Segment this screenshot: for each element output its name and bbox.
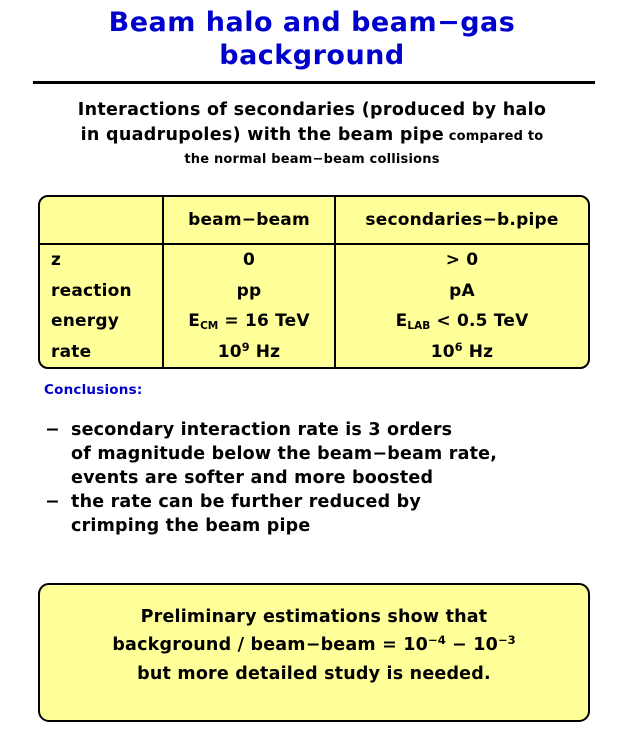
page-title-line-1: Beam halo and beam−gas (0, 6, 624, 39)
table-cell-energy-beam-beam: ECM = 16 TeV (163, 306, 335, 336)
page-title-line-2: background (0, 39, 624, 72)
energy-sec-symbol: E (396, 311, 408, 331)
table-row-label-z: z (40, 244, 163, 276)
rate-sec-unit: Hz (463, 342, 494, 362)
energy-bb-value: = 16 TeV (218, 311, 309, 331)
list-item-line: the rate can be further reduced by (71, 490, 585, 514)
table-row: rate 109 Hz 106 Hz (40, 336, 588, 367)
energy-sec-value: < 0.5 TeV (430, 311, 528, 331)
summary-text: Preliminary estimations show that backgr… (40, 603, 588, 688)
table-row-label-rate: rate (40, 336, 163, 367)
table-cell-energy-secondaries: ELAB < 0.5 TeV (335, 306, 588, 336)
table-header-beam-beam: beam−beam (163, 197, 335, 244)
bullet-dash-icon: − (45, 490, 60, 514)
rate-bb-unit: Hz (250, 342, 281, 362)
comparison-table-grid: beam−beam secondaries−b.pipe z 0 > 0 rea… (40, 197, 588, 367)
table-row-label-energy: energy (40, 306, 163, 336)
table-cell-reaction-secondaries: pA (335, 276, 588, 306)
summary-ratio-mid: − 10 (446, 635, 498, 655)
subtitle-small-trailing: compared to (444, 129, 543, 144)
list-item: − secondary interaction rate is 3 orders… (40, 418, 585, 490)
list-item-line: events are softer and more boosted (71, 466, 585, 490)
page-title: Beam halo and beam−gas background (0, 6, 624, 72)
summary-line-1: Preliminary estimations show that (40, 603, 588, 631)
table-row: reaction pp pA (40, 276, 588, 306)
rate-sec-base: 10 (431, 342, 455, 362)
summary-exponent-2: −3 (498, 633, 516, 647)
summary-line-2: background / beam−beam = 10−4 − 10−3 (40, 631, 588, 660)
subtitle-small-line-2: the normal beam−beam collisions (22, 150, 602, 169)
bullet-dash-icon: − (45, 418, 60, 442)
table-header-blank (40, 197, 163, 244)
comparison-table: beam−beam secondaries−b.pipe z 0 > 0 rea… (38, 195, 590, 369)
table-cell-z-secondaries: > 0 (335, 244, 588, 276)
table-cell-z-beam-beam: 0 (163, 244, 335, 276)
list-item: − the rate can be further reduced by cri… (40, 490, 585, 538)
conclusions-label: Conclusions: (44, 382, 142, 398)
subtitle: Interactions of secondaries (produced by… (22, 98, 602, 169)
rate-bb-exponent: 9 (242, 341, 250, 354)
subtitle-main: Interactions of secondaries (produced by… (22, 98, 602, 149)
energy-bb-subscript: CM (200, 320, 218, 332)
list-item-line: of magnitude below the beam−beam rate, (71, 442, 585, 466)
list-item-line: crimping the beam pipe (71, 514, 585, 538)
energy-bb-symbol: E (188, 311, 200, 331)
table-cell-rate-beam-beam: 109 Hz (163, 336, 335, 367)
rate-sec-exponent: 6 (455, 341, 463, 354)
table-row: z 0 > 0 (40, 244, 588, 276)
conclusions-bullet-list: − secondary interaction rate is 3 orders… (40, 418, 585, 538)
table-row: energy ECM = 16 TeV ELAB < 0.5 TeV (40, 306, 588, 336)
table-row-label-reaction: reaction (40, 276, 163, 306)
summary-exponent-1: −4 (428, 633, 446, 647)
rate-bb-base: 10 (218, 342, 242, 362)
title-divider-rule (33, 81, 595, 84)
summary-ratio-prefix: background / beam−beam = 10 (112, 635, 428, 655)
energy-sec-subscript: LAB (407, 320, 430, 332)
subtitle-main-line-1: Interactions of secondaries (produced by… (78, 100, 546, 120)
table-cell-reaction-beam-beam: pp (163, 276, 335, 306)
subtitle-main-line-2: in quadrupoles) with the beam pipe (81, 125, 444, 145)
list-item-line: secondary interaction rate is 3 orders (71, 418, 585, 442)
table-cell-rate-secondaries: 106 Hz (335, 336, 588, 367)
summary-highlight-box: Preliminary estimations show that backgr… (38, 583, 590, 722)
summary-line-3: but more detailed study is needed. (40, 660, 588, 688)
table-header-row: beam−beam secondaries−b.pipe (40, 197, 588, 244)
table-header-secondaries: secondaries−b.pipe (335, 197, 588, 244)
